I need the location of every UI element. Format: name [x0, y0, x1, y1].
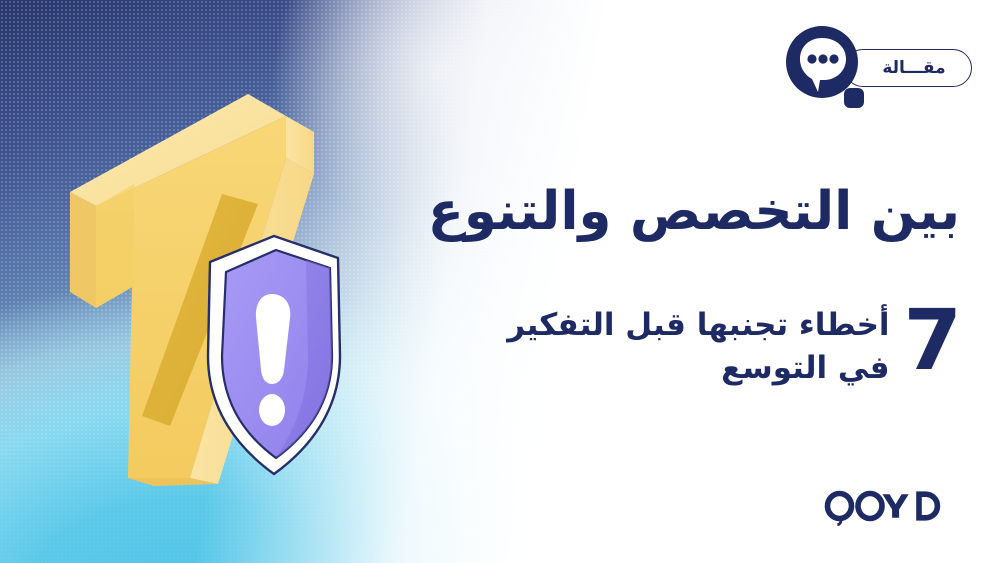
speech-bubble-q-icon [778, 22, 870, 114]
page-subtitle: 7 أخطاء تجنبها قبل التفكير في التوسع [340, 300, 960, 390]
hero-illustration [62, 86, 392, 486]
qoyod-logo [824, 489, 942, 527]
subtitle-lines: أخطاء تجنبها قبل التفكير في التوسع [507, 300, 889, 390]
subtitle-numeral: 7 [904, 302, 960, 379]
page-title: بين التخصص والتنوع [340, 182, 960, 241]
article-badge-label: مقـــالة [882, 60, 945, 77]
article-badge: مقـــالة [778, 22, 972, 114]
subtitle-line-2: في التوسع [507, 347, 889, 390]
subtitle-line-1: أخطاء تجنبها قبل التفكير [507, 304, 889, 347]
article-banner: مقـــالة بين التخصص والتنوع 7 أخطاء تجنب… [0, 0, 1000, 563]
